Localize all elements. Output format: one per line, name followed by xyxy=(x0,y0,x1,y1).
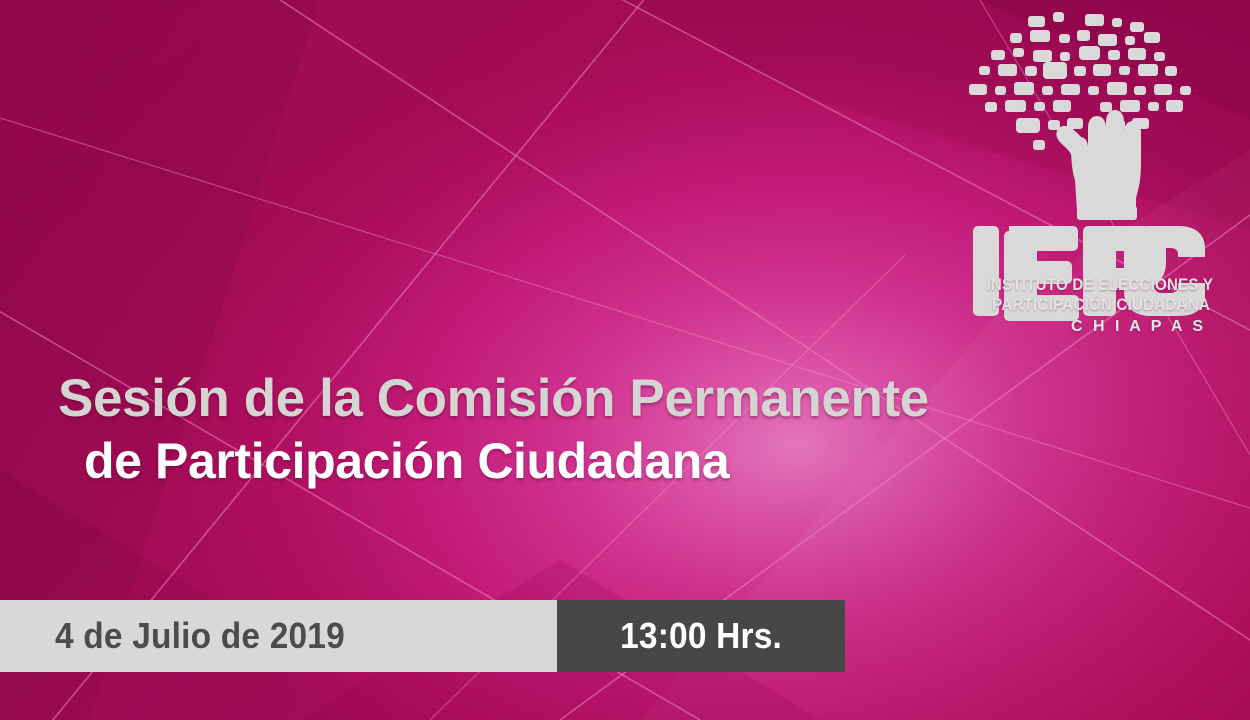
logo-subtitle-line2: PARTICIPACIÓN CIUDADANA xyxy=(986,296,1210,315)
event-infobar: 4 de Julio de 2019 13:00 Hrs. xyxy=(0,600,845,672)
logo-subtitle-line3: C H I A P A S xyxy=(967,318,1210,336)
event-title-line1: Sesión de la Comisión Permanente xyxy=(0,372,1250,426)
event-time-box: 13:00 Hrs. xyxy=(557,600,845,672)
event-title: Sesión de la Comisión Permanente de Part… xyxy=(0,372,1250,487)
iepc-logo: INSTITUTO DE ELECCIONES Y PARTICIPACIÓN … xyxy=(967,8,1212,356)
logo-subtitle-line1: INSTITUTO DE ELECCIONES Y xyxy=(986,276,1210,295)
event-date-text: 4 de Julio de 2019 xyxy=(55,615,345,657)
event-announcement-banner: INSTITUTO DE ELECCIONES Y PARTICIPACIÓN … xyxy=(0,0,1250,720)
pixel-mosaic-icon xyxy=(969,12,1191,150)
event-title-line2: de Participación Ciudadana xyxy=(0,436,1250,487)
event-time-text: 13:00 Hrs. xyxy=(620,615,782,657)
event-date-box: 4 de Julio de 2019 xyxy=(0,600,557,672)
